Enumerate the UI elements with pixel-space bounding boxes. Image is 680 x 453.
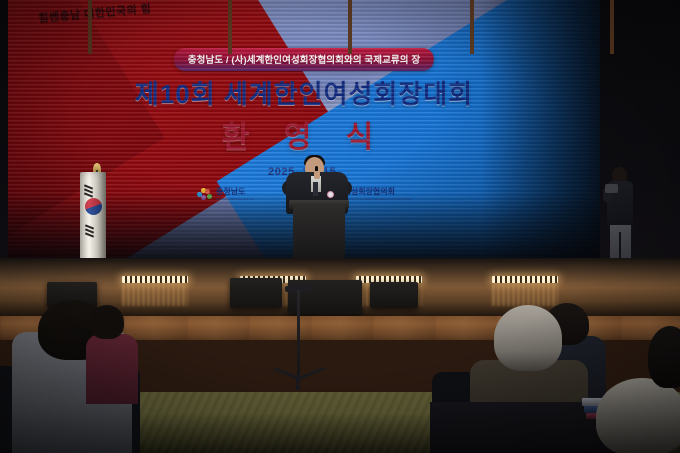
audience-member-head (596, 378, 680, 453)
slat-divider (348, 0, 352, 54)
led-reflection (492, 284, 558, 306)
speaker-flower-corsage (327, 191, 334, 198)
screenshot-root: 힘쎈충남 대한민국의 힘 충청남도 / (사)세계한인여성회장협의회와의 국제교… (0, 0, 680, 453)
camera-icon (605, 184, 618, 193)
stage-monitor-speaker (230, 278, 282, 308)
speaker-hand (314, 171, 320, 179)
led-reflection (122, 284, 188, 306)
mic-stand-leg (296, 374, 300, 390)
stage-led-bar (122, 276, 188, 283)
stage-monitor-speaker (370, 282, 418, 308)
audience-member-head (90, 305, 124, 339)
slat-divider (470, 0, 474, 54)
slat-divider (88, 0, 92, 54)
flag-shading (80, 172, 106, 266)
slat-divider (610, 0, 614, 54)
audience-member-head (648, 326, 680, 388)
slat-divider (228, 0, 232, 54)
audience-member-head (494, 305, 562, 371)
audience-member-body (86, 334, 138, 404)
speaker-necktie (313, 182, 318, 196)
stage-led-bar (492, 276, 558, 283)
